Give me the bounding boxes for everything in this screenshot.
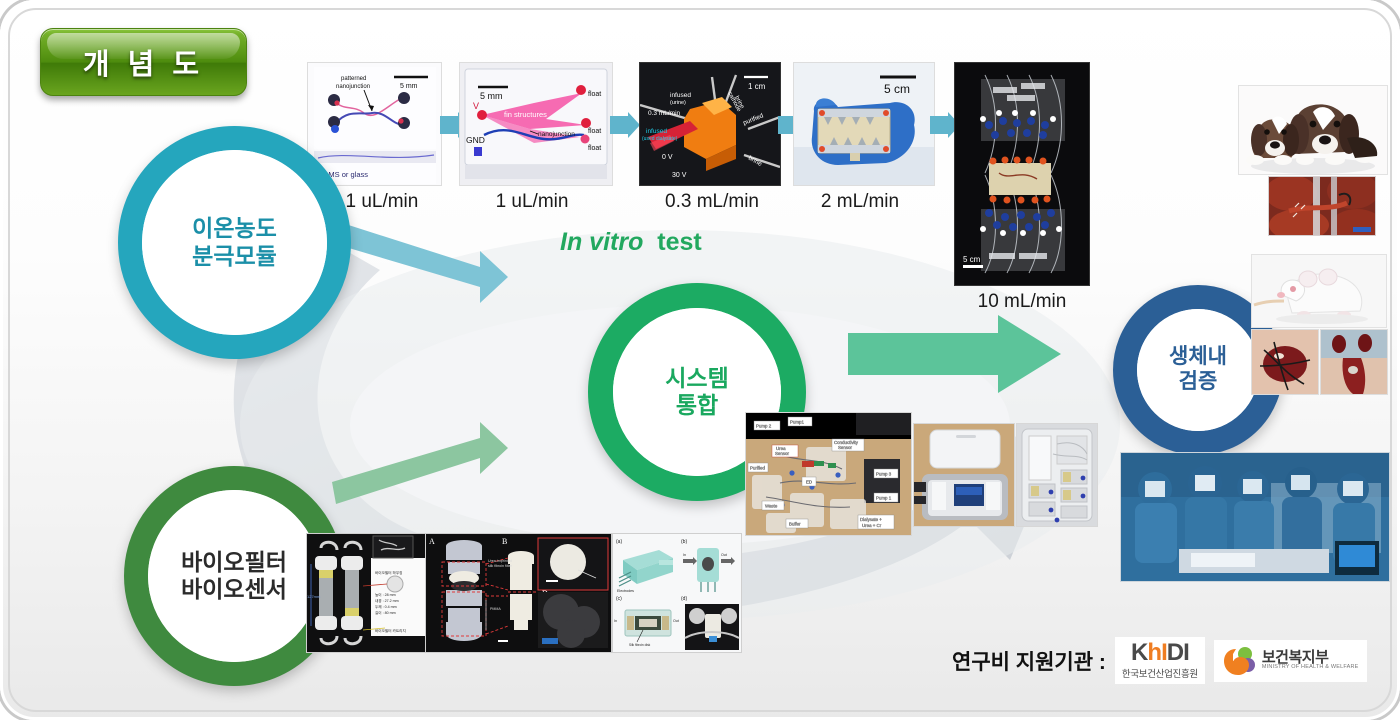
node-ion-label-wrap: 이온농도 분극모듈 [142,150,327,335]
svg-text:길이 : 80 mm: 길이 : 80 mm [375,610,396,615]
arrow-system-to-invivo [848,315,1063,393]
svg-text:30 V: 30 V [672,172,687,179]
svg-text:Pump 2: Pump 2 [756,424,772,429]
node-ion-line1: 이온농도 [192,215,277,242]
svg-text:Out: Out [673,619,679,623]
svg-text:(c): (c) [616,596,622,602]
svg-text:127mm: 127mm [307,594,321,599]
svg-text:Pump 1: Pump 1 [876,496,892,501]
svg-text:(a): (a) [616,539,622,545]
svg-text:V: V [473,101,479,111]
svg-text:Pump1: Pump1 [790,420,804,425]
svg-text:nanojunction: nanojunction [538,131,575,138]
node-vivo-line2: 검증 [1169,370,1227,395]
photo-bench-setup: Pump 2 Pump1 UreaSensor ConductivitySens… [745,412,912,536]
khidi-letter-h: h [1147,639,1161,666]
svg-text:0 V: 0 V [662,154,673,161]
funding-footer: 연구비 지원기관 : KhIDI 한국보건산업진흥원 보건복지부 MINISTR… [952,637,1367,684]
svg-text:(d): (d) [681,596,687,602]
svg-text:Sensor: Sensor [775,451,789,456]
svg-text:5 mm: 5 mm [400,83,418,90]
photo-nanojunction-chip: 5 mm patterned nanojunction PDMS or glas… [307,62,442,186]
svg-text:nanojunction: nanojunction [336,84,370,90]
svg-text:fin structures: fin structures [504,110,547,119]
photo-filter-cartridge-panels: A B C D [425,533,612,653]
photo-white-rat [1251,254,1387,328]
khidi-logo: KhIDI 한국보건산업진흥원 [1115,637,1205,684]
svg-text:silk fibroin filter: silk fibroin filter [488,564,513,568]
svg-text:(used dialysate): (used dialysate) [642,136,678,142]
svg-text:Urea + Cr: Urea + Cr [862,523,882,528]
arrow-ion-to-system [330,215,510,310]
svg-text:In: In [614,619,617,623]
slide-canvas: 개 념 도 5 mm patterned nanojunction PDMS o… [0,0,1400,720]
svg-text:바이오필터 카트리지: 바이오필터 카트리지 [375,628,406,633]
mohw-logo: 보건복지부 MINISTRY OF HEALTH & WELFARE [1214,640,1367,682]
svg-text:In: In [683,553,686,557]
svg-text:Sensor: Sensor [838,445,852,450]
svg-text:5 cm: 5 cm [963,255,981,264]
photo-portable-device-open [913,423,1015,527]
svg-text:infused: infused [646,128,667,135]
flow-label-5: 10 mL/min [958,291,1086,313]
in-vitro-italic: In vitro [560,228,643,256]
svg-text:바이오필터 하우징: 바이오필터 하우징 [375,570,402,575]
khidi-wordmark: KhIDI [1131,641,1189,665]
photo-cartridge-in-hand: 5 cm [793,62,935,186]
svg-text:두께 : 0.4 mm: 두께 : 0.4 mm [375,604,397,609]
node-vivo-line1: 생체내 [1169,345,1227,370]
svg-text:GND: GND [466,135,485,145]
in-vitro-test-label: In vitro test [560,228,702,257]
node-ion-concentration-module[interactable]: 이온농도 분극모듈 [118,126,351,359]
flow-label-2: 1 uL/min [468,191,596,213]
mohw-english-name: MINISTRY OF HEALTH & WELFARE [1262,665,1359,671]
svg-text:Electrodes: Electrodes [617,589,634,593]
svg-text:높이 : 28 mm: 높이 : 28 mm [375,592,396,597]
photo-scaled-up-stack: 5 cm [954,62,1090,286]
svg-text:Dialysate +: Dialysate + [860,517,882,522]
khidi-letter-k: K [1131,639,1147,666]
svg-text:0.3 mL/min: 0.3 mL/min [648,110,681,117]
svg-text:1 cm: 1 cm [748,82,766,91]
svg-text:A: A [429,537,435,546]
svg-text:PMMA: PMMA [490,607,501,611]
node-sys-line2: 통합 [665,392,728,419]
node-ion-line2: 분극모듈 [192,243,277,270]
photo-biofilter-module: 바이오필터 하우징 높이 : 28 mm내경 : 27.2 mm 두께 : 0.… [306,533,426,653]
khidi-letters-di: DI [1167,639,1189,666]
flow-label-4: 2 mL/min [796,191,924,213]
photo-implant-closeup [1320,329,1388,395]
svg-text:Waste: Waste [765,504,778,509]
svg-text:patterned: patterned [341,76,366,82]
node-sys-line1: 시스템 [665,365,728,392]
svg-text:5 mm: 5 mm [480,91,503,101]
mohw-text-block: 보건복지부 MINISTRY OF HEALTH & WELFARE [1262,650,1359,672]
svg-text:Out: Out [721,553,727,557]
svg-text:infused: infused [670,92,691,99]
mohw-emblem-icon [1222,645,1256,677]
svg-text:Pump 3: Pump 3 [876,472,892,477]
photo-implant-site [1251,329,1319,395]
node-bio-line1: 바이오필터 [181,549,287,576]
in-vitro-plain: test [657,228,701,256]
funding-label: 연구비 지원기관 : [952,646,1106,676]
svg-text:float: float [588,91,601,98]
photo-biosensor-panels: (a) (b) (c) (d) Electrodes In Out [612,533,742,653]
svg-text:5 cm: 5 cm [884,82,910,96]
mohw-korean-name: 보건복지부 [1262,650,1359,666]
photo-3d-printed-device: 1 cm infused (urine) cathode brine 0.3 m… [639,62,781,186]
photo-beagle-puppies [1238,85,1388,175]
photo-operating-room [1120,452,1390,582]
photo-fin-structures: 5 mm fin structures nanojunction float f… [459,62,613,186]
svg-text:Purified: Purified [750,466,765,471]
photo-vascular-surgery [1268,176,1376,236]
svg-text:Silk fibroin disk: Silk fibroin disk [629,643,651,647]
arrow-biofilter-to-system [330,420,510,510]
svg-text:B: B [502,537,507,546]
khidi-korean-name: 한국보건산업진흥원 [1122,666,1198,680]
flow-label-3: 0.3 mL/min [648,191,776,213]
svg-text:Urea-imprinted: Urea-imprinted [488,559,512,563]
arrow-chevron-2 [610,112,640,138]
svg-text:Buffer: Buffer [789,522,801,527]
svg-text:(b): (b) [681,539,687,545]
node-bio-line2: 바이오센서 [181,576,287,603]
svg-text:ED: ED [806,480,812,485]
node-bio-label-wrap: 바이오필터 바이오센서 [148,490,320,662]
svg-text:(urine): (urine) [670,100,686,106]
photo-device-internals [1016,423,1098,527]
node-vivo-label-wrap: 생체내 검증 [1137,309,1259,431]
svg-text:float: float [588,145,601,152]
title-badge-label: 개 념 도 [83,41,204,83]
svg-text:내경 : 27.2 mm: 내경 : 27.2 mm [375,598,399,603]
title-badge: 개 념 도 [40,28,247,96]
svg-text:float: float [588,128,601,135]
